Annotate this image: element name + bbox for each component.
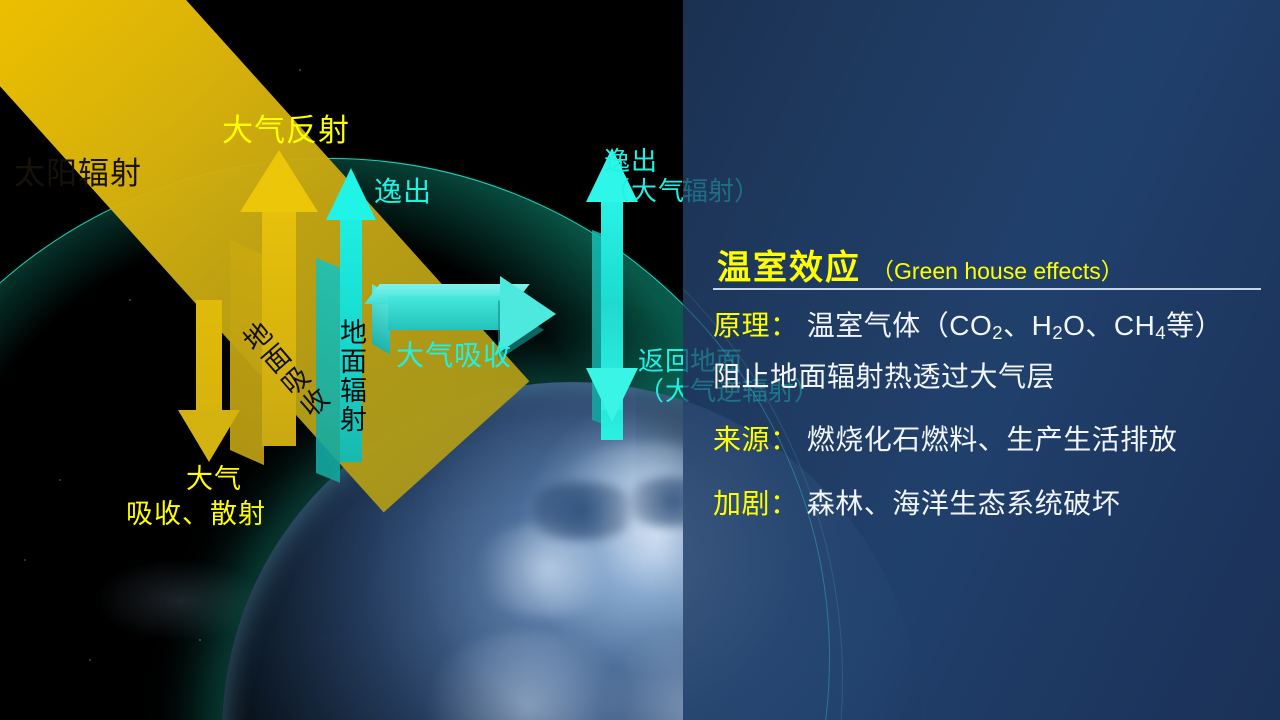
atmosphere-scatter-arrow-shaft [196,300,222,420]
label-atmosphere-line1: 大气 [186,457,242,496]
label-solar-radiation: 太阳辐射 [14,148,142,193]
panel-line-text: 森林、海洋生态系统破坏 [799,488,1121,519]
panel-title-divider [713,288,1261,290]
atmosphere-reflection-arrow-head [240,150,318,212]
panel-line-text: 阻止地面辐射热透过大气层 [713,361,1055,392]
slide-root: 太阳辐射 大气反射 逸出 地面吸收 地面辐射 大气吸收 逸出 （大气辐射） 返回… [0,0,1280,720]
panel-line-source: 来源： 燃烧化石燃料、生产生活排放 [713,418,1177,458]
panel-line-principle-cont: 阻止地面辐射热透过大气层 [713,355,1055,395]
panel-title-cn: 温室效应 [717,240,861,289]
panel-line-key: 来源： [713,424,799,455]
label-atmosphere-reflection: 大气反射 [222,105,350,150]
atmosphere-scatter-arrow-head [178,410,240,462]
info-panel: 逸出 （大气辐射） 返回地面 （大气逆辐射） 温室效应 （Green house… [683,0,1280,720]
panel-line-key: 原理： [713,310,799,341]
panel-line-text-principle: 温室气体（CO2、H2O、CH4等） [799,310,1224,341]
label-atmosphere-absorption: 大气吸收 [396,334,512,374]
label-escape-left: 逸出 [374,170,432,210]
panel-line-principle: 原理： 温室气体（CO2、H2O、CH4等） [713,304,1223,344]
label-ground-radiation: 地面辐射 [332,318,371,434]
panel-line-text: 燃烧化石燃料、生产生活排放 [799,424,1178,455]
label-atmosphere-line2: 吸收、散射 [126,492,266,531]
ground-radiation-arrow-head [326,168,376,220]
panel-content: 温室效应 （Green house effects） 原理： 温室气体（CO2、… [683,0,1280,720]
panel-line-key: 加剧： [713,488,799,519]
panel-line-aggravation: 加剧： 森林、海洋生态系统破坏 [713,482,1120,522]
panel-title-en: （Green house effects） [871,252,1124,286]
atmosphere-radiation-arrow-head-down [586,368,638,422]
panel-title-row: 温室效应 （Green house effects） [717,240,1124,289]
